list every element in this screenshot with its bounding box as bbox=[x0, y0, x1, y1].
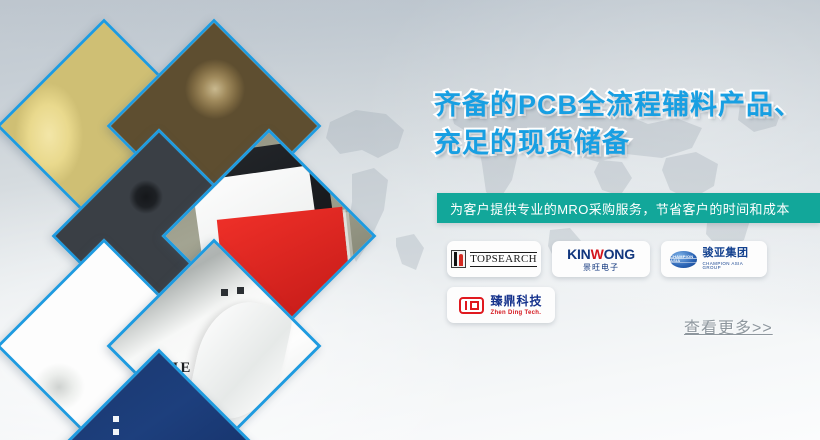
banner-subtitle: 为客户提供专业的MRO采购服务，节省客户的时间和成本 bbox=[437, 199, 790, 218]
kinwong-en-part2: W bbox=[591, 246, 604, 262]
kinwong-logo: KINWONG 景旺电子 bbox=[567, 247, 635, 272]
view-more-link[interactable]: 查看更多>> bbox=[684, 314, 773, 338]
champion-asia-text: 骏亚集团 CHAMPION ASIA GROUP bbox=[702, 248, 758, 271]
headline-line-1: 齐备的PCB全流程辅料产品、 bbox=[434, 86, 820, 124]
banner-headline: 齐备的PCB全流程辅料产品、 充足的现货储备 bbox=[434, 86, 820, 163]
logo-card-kinwong[interactable]: KINWONG 景旺电子 bbox=[552, 241, 650, 277]
logo-card-topsearch[interactable]: TOPSEARCH bbox=[447, 241, 541, 277]
champion-asia-wordmark-en: CHAMPION ASIA GROUP bbox=[702, 262, 758, 271]
kinwong-en-part1: KIN bbox=[567, 246, 591, 262]
zhen-ding-wordmark-cn: 臻鼎科技 bbox=[490, 295, 542, 307]
globe-label: CHAMPION ASIA bbox=[670, 255, 697, 263]
champion-asia-logo: CHAMPION ASIA 骏亚集团 CHAMPION ASIA GROUP bbox=[670, 248, 758, 271]
kinwong-wordmark-en: KINWONG bbox=[567, 247, 635, 261]
logo-card-champion-asia[interactable]: CHAMPION ASIA 骏亚集团 CHAMPION ASIA GROUP bbox=[661, 241, 767, 277]
banner-content: 齐备的PCB全流程辅料产品、 充足的现货储备 为客户提供专业的MRO采购服务，节… bbox=[0, 0, 820, 440]
kinwong-wordmark-cn: 景旺电子 bbox=[567, 264, 635, 272]
topsearch-logo: TOPSEARCH bbox=[451, 250, 537, 268]
topsearch-mark-icon bbox=[451, 250, 466, 268]
champion-asia-wordmark-cn: 骏亚集团 bbox=[702, 248, 758, 259]
headline-line-2: 充足的现货储备 bbox=[434, 124, 820, 162]
globe-icon: CHAMPION ASIA bbox=[670, 251, 697, 268]
zhen-ding-text: 臻鼎科技 Zhen Ding Tech. bbox=[490, 295, 542, 316]
zhen-ding-monogram-icon bbox=[459, 297, 484, 314]
logo-row-1: TOPSEARCH KINWONG 景旺电子 CHAMPION ASIA bbox=[447, 241, 820, 277]
topsearch-wordmark: TOPSEARCH bbox=[470, 252, 537, 267]
promo-banner: JIE 齐备的PCB全流程辅料产品、 充足的现货储备 为客户提供专业的MRO采购… bbox=[0, 0, 820, 440]
zhen-ding-logo: 臻鼎科技 Zhen Ding Tech. bbox=[459, 295, 542, 316]
kinwong-en-part3: ONG bbox=[604, 246, 635, 262]
logo-card-zhen-ding[interactable]: 臻鼎科技 Zhen Ding Tech. bbox=[447, 287, 555, 323]
zhen-ding-wordmark-en: Zhen Ding Tech. bbox=[490, 310, 542, 316]
banner-subtitle-bar: 为客户提供专业的MRO采购服务，节省客户的时间和成本 bbox=[437, 193, 820, 223]
